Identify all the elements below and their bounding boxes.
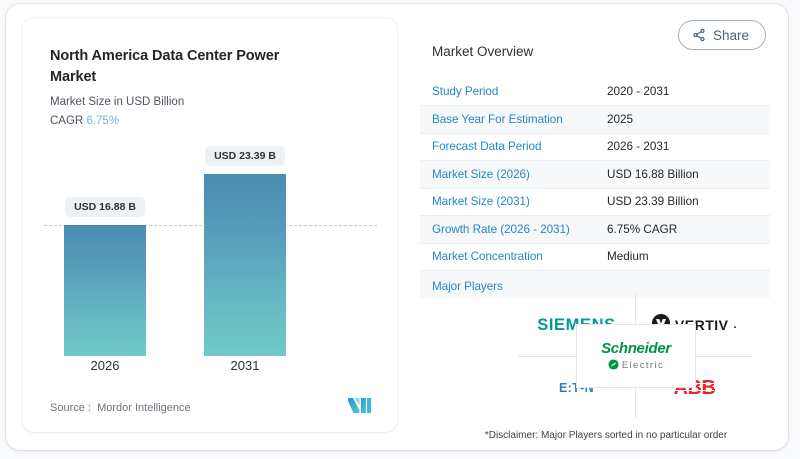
market-overview-table: Study Period 2020 - 2031 Base Year For E… bbox=[420, 78, 770, 298]
chart-panel: North America Data Center Power Market M… bbox=[22, 18, 397, 432]
row-label: Growth Rate (2026 - 2031) bbox=[420, 216, 595, 244]
bar-value-chip-2031: USD 23.39 B bbox=[205, 146, 285, 166]
table-row: Market Size (2031) USD 23.39 Billion bbox=[420, 188, 770, 216]
share-button[interactable]: Share bbox=[678, 20, 766, 50]
row-label: Market Size (2026) bbox=[420, 161, 595, 189]
x-axis-labels: 2026 2031 bbox=[22, 358, 397, 384]
chart-title: North America Data Center Power Market bbox=[50, 46, 285, 87]
x-tick-2031: 2031 bbox=[204, 358, 286, 373]
row-label: Forecast Data Period bbox=[420, 133, 595, 161]
row-value: Medium bbox=[595, 243, 770, 271]
bar-2026[interactable] bbox=[64, 225, 146, 356]
row-value: USD 23.39 Billion bbox=[595, 188, 770, 216]
cagr-label: CAGR bbox=[50, 115, 83, 127]
table-row: Base Year For Estimation 2025 bbox=[420, 106, 770, 134]
schneider-electric-logo: Schneider Electric bbox=[601, 340, 671, 373]
row-value: 2020 - 2031 bbox=[595, 78, 770, 106]
logo-cell-schneider-electric[interactable]: Schneider Electric bbox=[577, 325, 695, 387]
table-row: Forecast Data Period 2026 - 2031 bbox=[420, 133, 770, 161]
row-value: 2026 - 2031 bbox=[595, 133, 770, 161]
source-label: Source : bbox=[50, 402, 91, 414]
table-row: Market Size (2026) USD 16.88 Billion bbox=[420, 161, 770, 189]
table-row: Study Period 2020 - 2031 bbox=[420, 78, 770, 106]
source-name: Mordor Intelligence bbox=[97, 402, 191, 414]
chart-header: North America Data Center Power Market M… bbox=[22, 18, 397, 131]
bar-chart-plot: USD 16.88 B USD 23.39 B 2026 2031 Source… bbox=[22, 146, 397, 432]
source-text: Source : Mordor Intelligence bbox=[50, 402, 191, 414]
share-button-label: Share bbox=[713, 28, 749, 43]
schneider-wordmark: Schneider bbox=[601, 340, 671, 357]
abb-slash-lower bbox=[675, 390, 715, 392]
share-nodes-icon bbox=[692, 28, 706, 42]
schneider-electric-text: Electric bbox=[622, 361, 664, 371]
major-players-logo-grid: SIEMENS VERTIV . bbox=[518, 294, 753, 418]
row-value: 6.75% CAGR bbox=[595, 216, 770, 244]
table-row: Growth Rate (2026 - 2031) 6.75% CAGR bbox=[420, 216, 770, 244]
row-value: 2025 bbox=[595, 106, 770, 134]
vertiv-period: . bbox=[734, 319, 738, 331]
x-tick-2026: 2026 bbox=[64, 358, 146, 373]
cagr-value: 6.75% bbox=[86, 115, 119, 127]
bar-series: USD 16.88 B USD 23.39 B bbox=[22, 146, 397, 356]
chart-source-row: Source : Mordor Intelligence bbox=[50, 398, 371, 418]
mordor-intelligence-logo bbox=[348, 398, 371, 418]
row-label: Base Year For Estimation bbox=[420, 106, 595, 134]
main-card: Share North America Data Center Power Ma… bbox=[6, 4, 788, 450]
row-value: USD 16.88 Billion bbox=[595, 161, 770, 189]
market-overview-panel: Market Overview Study Period 2020 - 2031… bbox=[420, 18, 780, 448]
row-label: Market Concentration bbox=[420, 243, 595, 271]
chart-cagr: CAGR 6.75% bbox=[50, 113, 371, 130]
schneider-mark-icon bbox=[608, 359, 619, 373]
report-snapshot-page: Share North America Data Center Power Ma… bbox=[0, 0, 800, 459]
schneider-subwordmark: Electric bbox=[601, 359, 671, 373]
bar-value-chip-2026: USD 16.88 B bbox=[65, 197, 145, 217]
table-row: Market Concentration Medium bbox=[420, 243, 770, 271]
row-label: Market Size (2031) bbox=[420, 188, 595, 216]
disclaimer-text: *Disclaimer: Major Players sorted in no … bbox=[432, 430, 780, 441]
chart-subtitle: Market Size in USD Billion bbox=[50, 94, 371, 111]
row-label: Study Period bbox=[420, 78, 595, 106]
bar-2031[interactable] bbox=[204, 174, 286, 356]
